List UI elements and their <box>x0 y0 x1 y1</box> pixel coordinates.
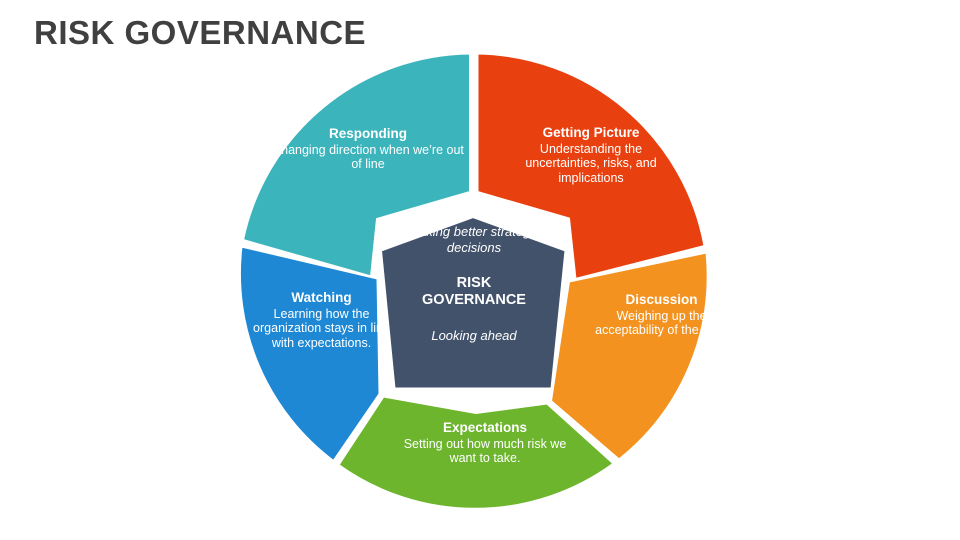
slide-canvas: RISK GOVERNANCE Getting Picture Understa… <box>0 0 960 540</box>
segment-watching[interactable] <box>240 247 380 462</box>
risk-governance-wheel <box>0 0 960 540</box>
center-pentagon[interactable] <box>381 217 566 389</box>
